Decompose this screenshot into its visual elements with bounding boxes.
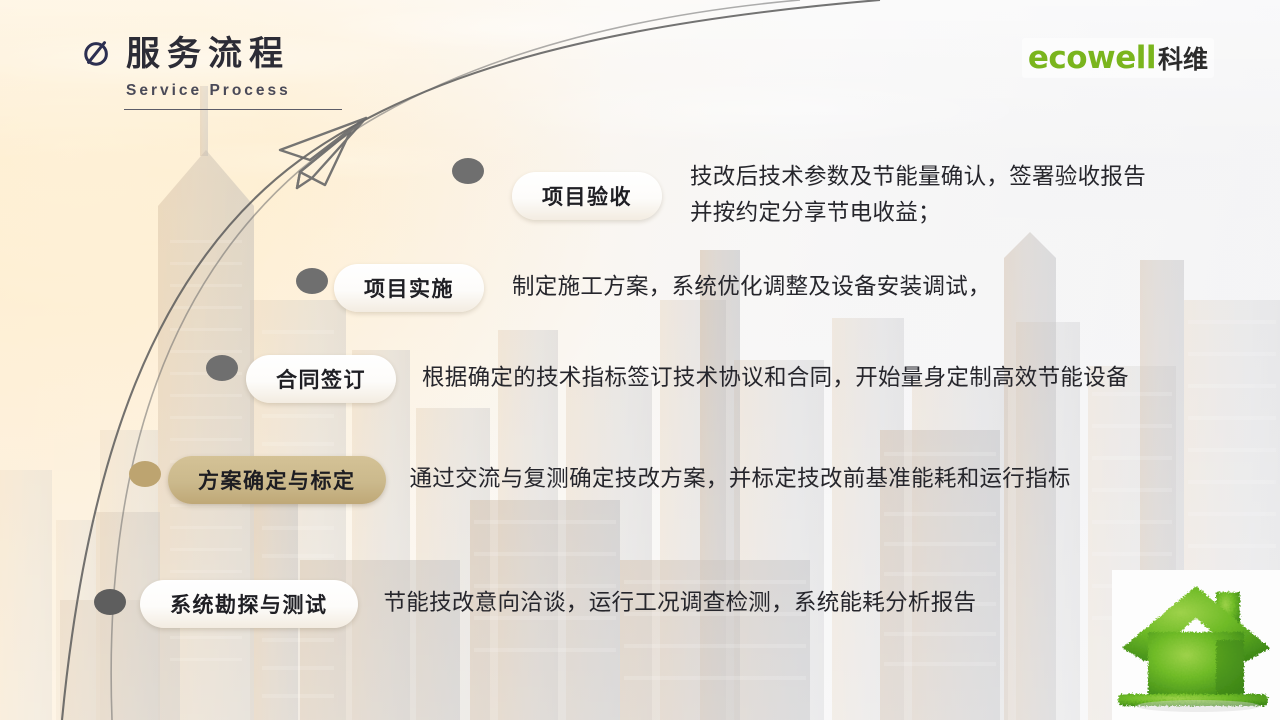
- step-label-pill-1[interactable]: 项目验收: [512, 172, 662, 220]
- process-step-row-1: 项目验收 技改后技术参数及节能量确认，签署验收报告 并按约定分享节电收益；: [512, 160, 1146, 231]
- step-description-3: 根据确定的技术指标签订技术协议和合同，开始量身定制高效节能设备: [422, 361, 1129, 397]
- step-label-pill-3[interactable]: 合同签订: [246, 355, 396, 403]
- step-description-4: 通过交流与复测确定技改方案，并标定技改前基准能耗和运行指标: [410, 462, 1071, 498]
- step-dot-1[interactable]: [452, 158, 484, 184]
- step-dot-4-active[interactable]: [129, 461, 161, 487]
- green-grass-house-image: [1112, 570, 1280, 720]
- step-label-pill-5[interactable]: 系统勘探与测试: [140, 580, 358, 628]
- step-dot-2[interactable]: [296, 268, 328, 294]
- process-step-row-2: 项目实施 制定施工方案，系统优化调整及设备安装调试，: [334, 264, 991, 312]
- step-description-2: 制定施工方案，系统优化调整及设备安装调试，: [512, 270, 991, 306]
- step-label-pill-2[interactable]: 项目实施: [334, 264, 484, 312]
- step-description-1: 技改后技术参数及节能量确认，签署验收报告 并按约定分享节电收益；: [690, 160, 1146, 231]
- step-description-5: 节能技改意向洽谈，运行工况调查检测，系统能耗分析报告: [384, 586, 977, 622]
- step-dot-5[interactable]: [94, 589, 126, 615]
- slide-canvas: 服务流程 Service Process ecowell 科维 项目验收 技改后…: [0, 0, 1280, 720]
- process-step-row-3: 合同签订 根据确定的技术指标签订技术协议和合同，开始量身定制高效节能设备: [246, 355, 1129, 403]
- step-description-line-1: 技改后技术参数及节能量确认，签署验收报告: [690, 164, 1146, 190]
- step-description-line-2: 并按约定分享节电收益；: [690, 196, 1146, 232]
- process-step-row-4: 方案确定与标定 通过交流与复测确定技改方案，并标定技改前基准能耗和运行指标: [168, 456, 1071, 504]
- step-dot-3[interactable]: [206, 355, 238, 381]
- step-label-pill-4[interactable]: 方案确定与标定: [168, 456, 386, 504]
- process-step-row-5: 系统勘探与测试 节能技改意向洽谈，运行工况调查检测，系统能耗分析报告: [140, 580, 976, 628]
